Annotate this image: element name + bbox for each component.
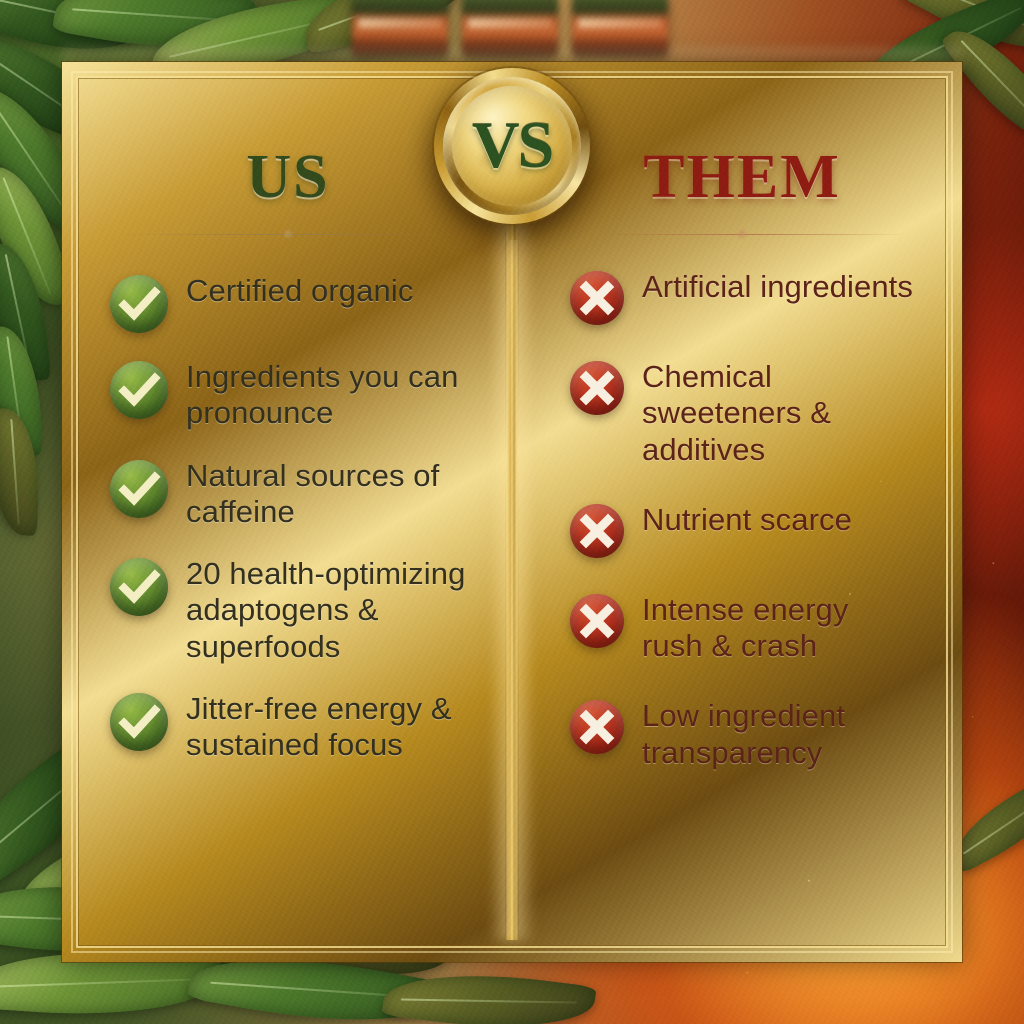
product-jars <box>352 0 672 60</box>
list-item-label: 20 health-optimizing adaptogens & superf… <box>186 556 466 665</box>
cross-icon <box>570 271 624 325</box>
list-item-label: Ingredients you can pronounce <box>186 359 466 432</box>
product-jar <box>352 0 448 56</box>
leaf-decoration <box>52 0 256 65</box>
list-item: Natural sources of caffeine <box>110 458 466 531</box>
list-item-label: Jitter-free energy & sustained focus <box>186 691 466 764</box>
leaf-decoration <box>0 408 41 536</box>
list-item: Jitter-free energy & sustained focus <box>110 691 466 764</box>
list-item-label: Intense energy rush & crash <box>642 592 914 665</box>
list-item: Low ingredient transparency <box>570 698 914 771</box>
list-item-label: Chemical sweeteners & additives <box>642 359 914 468</box>
list-item: Intense energy rush & crash <box>570 592 914 665</box>
check-icon <box>110 693 168 751</box>
list-item-label: Low ingredient transparency <box>642 698 914 771</box>
cross-icon <box>570 361 624 415</box>
comparison-graphic: US Certified organic Ingredients you can… <box>0 0 1024 1024</box>
them-drawback-list: Artificial ingredients Chemical sweetene… <box>570 269 914 771</box>
them-heading: THEM <box>570 146 914 208</box>
check-icon <box>110 275 168 333</box>
leaf-decoration <box>381 961 596 1024</box>
check-icon <box>110 558 168 616</box>
vs-label: VS <box>472 113 552 179</box>
leaf-decoration <box>0 325 42 457</box>
list-item: Nutrient scarce <box>570 502 914 558</box>
list-item: 20 health-optimizing adaptogens & superf… <box>110 556 466 665</box>
list-item-label: Artificial ingredients <box>642 269 913 305</box>
list-item-label: Certified organic <box>186 273 413 309</box>
cross-icon <box>570 594 624 648</box>
check-icon <box>110 460 168 518</box>
list-item: Chemical sweeteners & additives <box>570 359 914 468</box>
cross-icon <box>570 700 624 754</box>
product-jar <box>462 0 558 56</box>
check-icon <box>110 361 168 419</box>
us-heading-rule <box>118 234 458 235</box>
us-heading: US <box>110 146 466 208</box>
list-item: Artificial ingredients <box>570 269 914 325</box>
vs-medallion: VS <box>434 68 590 224</box>
list-item: Certified organic <box>110 273 466 333</box>
us-benefit-list: Certified organic Ingredients you can pr… <box>110 273 466 763</box>
list-item-label: Natural sources of caffeine <box>186 458 466 531</box>
them-heading-rule <box>578 234 906 235</box>
list-item-label: Nutrient scarce <box>642 502 852 538</box>
cross-icon <box>570 504 624 558</box>
leaf-decoration <box>0 240 51 385</box>
list-item: Ingredients you can pronounce <box>110 359 466 432</box>
product-jar <box>572 0 668 56</box>
